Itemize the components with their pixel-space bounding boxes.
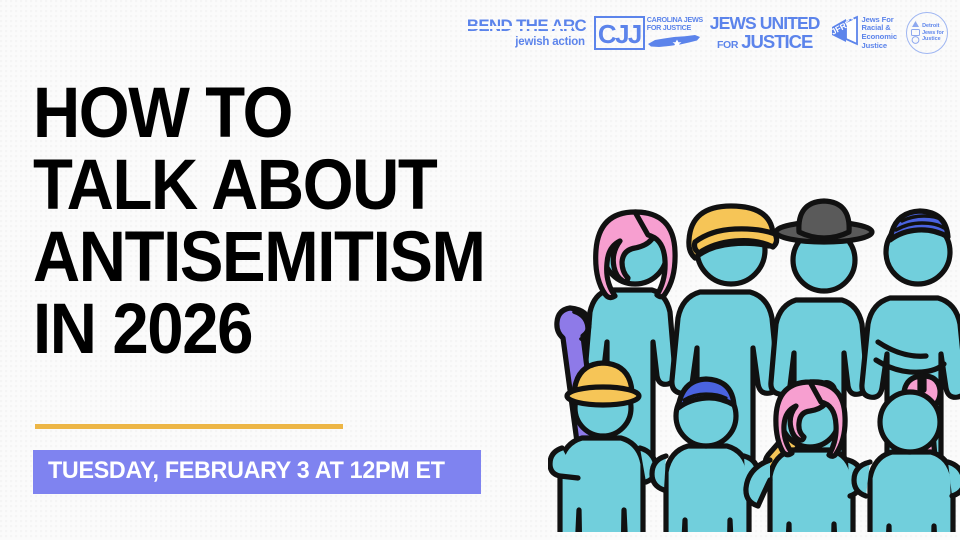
logo-carolina-jews-for-justice: CJJ CAROLINA JEWS FOR JUSTICE (594, 16, 701, 50)
page-title: HOW TO TALK ABOUT ANTISEMITISM IN 2026 (33, 78, 524, 366)
logo-djj-text-block: Detroit Jews for Justice (922, 23, 944, 42)
logo-cjj-line2: FOR JUSTICE (647, 24, 701, 32)
logo-bend-the-arc-wordmark: BEND THE ARC (467, 18, 586, 35)
north-carolina-map-icon (647, 33, 701, 55)
page-title-line-1: HOW TO (33, 78, 485, 150)
logo-detroit-jews-for-justice: Detroit Jews for Justice (906, 12, 948, 54)
webinar-promo-poster: BEND THE ARC jewish action CJJ CAROLINA … (0, 0, 960, 540)
logo-juj-justice: JUSTICE (741, 33, 812, 52)
logo-jfrej: JFREJ Jews For Racial & Economic Justice (829, 14, 898, 53)
page-title-line-4: IN 2026 (33, 294, 485, 366)
logo-jfrej-word-3: Justice (862, 42, 898, 51)
megaphone-icon: JFREJ (829, 14, 859, 53)
logo-juj-for: FOR (717, 40, 738, 51)
status-badge-event-datetime: TUESDAY, FEBRUARY 3 AT 12PM ET (33, 450, 481, 494)
logo-juj-line2: FOR JUSTICE (717, 33, 812, 52)
figure-front-hijab (746, 382, 862, 532)
event-datetime-text: TUESDAY, FEBRUARY 3 AT 12PM ET (48, 459, 445, 483)
page-title-line-3: ANTISEMITISM (33, 222, 485, 294)
logo-juj-line1: JEWS UNITED (710, 15, 820, 33)
logo-djj-word-2: Justice (922, 36, 944, 42)
logo-cjj-text-block: CAROLINA JEWS FOR JUSTICE (647, 16, 701, 50)
partner-logo-bar: BEND THE ARC jewish action CJJ CAROLINA … (468, 10, 948, 56)
detroit-mark-icon (910, 20, 921, 46)
logo-cjj-monogram: CJJ (594, 16, 645, 50)
page-title-line-2: TALK ABOUT (33, 150, 485, 222)
gold-divider-rule (35, 424, 343, 429)
figure-front-wrench (854, 392, 960, 532)
crowd-of-people-with-tools-illustration (548, 160, 960, 532)
logo-bend-the-arc: BEND THE ARC jewish action (468, 18, 585, 49)
logo-bend-the-arc-tagline: jewish action (515, 37, 585, 49)
logo-jews-united-for-justice: JEWS UNITED FOR JUSTICE (710, 15, 820, 52)
logo-jfrej-text-block: Jews For Racial & Economic Justice (862, 16, 898, 50)
